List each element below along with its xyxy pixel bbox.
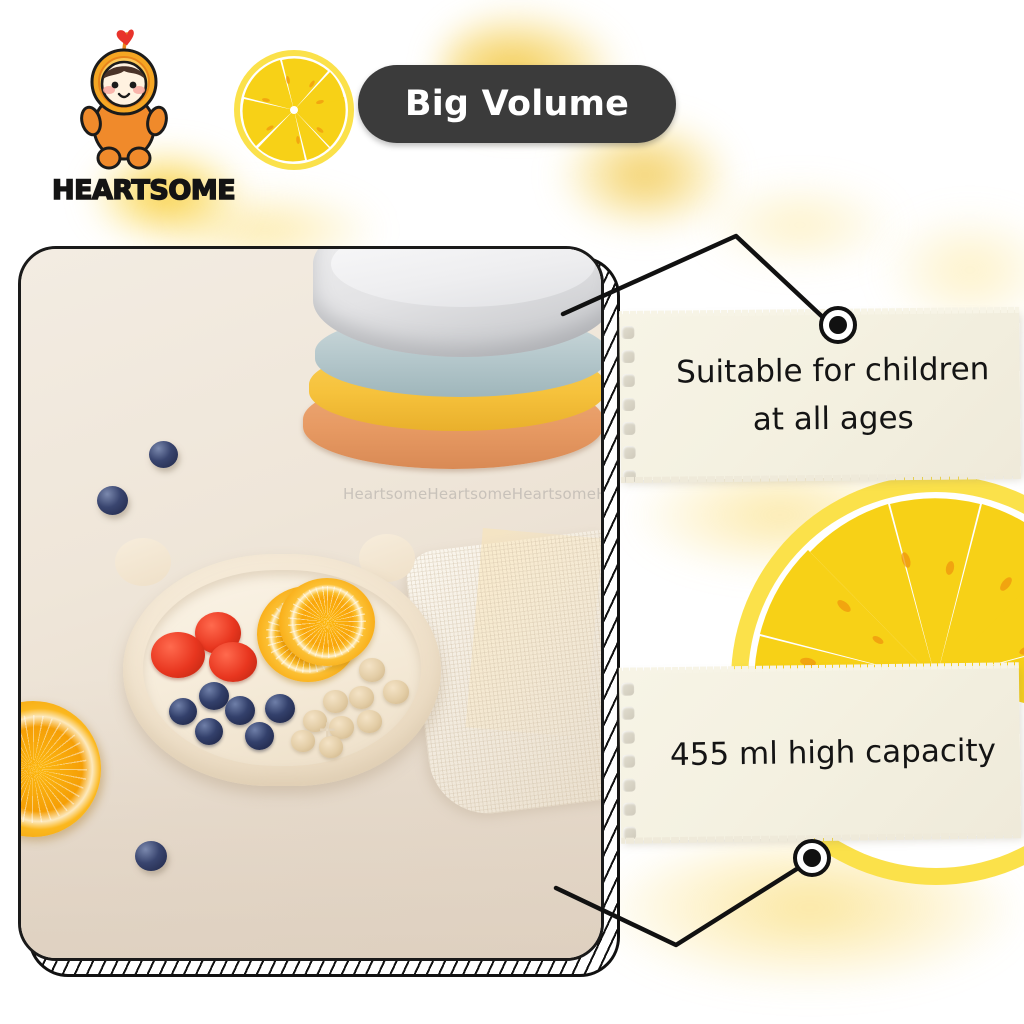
callout-line: 455 ml high capacity [670, 727, 997, 780]
blueberry [149, 441, 178, 468]
callout-card-ages: Suitable for children at all ages [619, 310, 1021, 480]
blueberry [245, 722, 274, 750]
blueberry [195, 718, 223, 745]
watercolor-splash [700, 180, 900, 270]
plate-well: ✛ [143, 570, 421, 766]
paper-perforations [621, 326, 640, 468]
title-badge: Big Volume [358, 65, 676, 143]
stacked-bowls: ✛ [283, 246, 604, 481]
cereal-puff [291, 730, 315, 752]
cereal-puff [323, 690, 348, 713]
product-photo: ✛ [18, 246, 604, 961]
cereal-puff [383, 680, 409, 704]
title-badge-label: Big Volume [405, 84, 629, 124]
callout-card-capacity: 455 ml high capacity [619, 665, 1021, 841]
cereal-puff [359, 658, 385, 682]
poster-canvas: HEARTSOME [0, 0, 1024, 1024]
product-photo-frame: ✛ [18, 246, 604, 961]
photo-watermark: HeartsomeHeartsomeHeartsomeHeartsome [343, 485, 604, 503]
cross-emboss-icon: ✛ [319, 718, 336, 742]
blueberry [225, 696, 255, 725]
blueberry [97, 486, 128, 515]
brand-logo: HEARTSOME [52, 24, 222, 209]
bowl-grey: ✛ [313, 246, 604, 357]
plate-ear-left [115, 538, 171, 586]
lemon-slice-icon [232, 48, 356, 172]
napkin-fold [465, 528, 602, 738]
blueberry [135, 841, 167, 871]
mascot-icon [64, 24, 184, 174]
cross-emboss-icon: ✛ [473, 246, 487, 251]
cereal-puff [349, 686, 374, 709]
callout-line: at all ages [753, 394, 914, 444]
brand-name: HEARTSOME [52, 174, 222, 208]
bear-shaped-plate: ✛ [109, 534, 454, 802]
paper-perforations [621, 683, 641, 829]
cereal-puff [357, 710, 382, 733]
orange-slice [279, 578, 375, 666]
blueberry [169, 698, 197, 725]
callout-line: Suitable for children [676, 345, 990, 396]
tomato-slice [209, 642, 257, 682]
tomato-slice [151, 632, 205, 678]
blueberry [265, 694, 295, 723]
